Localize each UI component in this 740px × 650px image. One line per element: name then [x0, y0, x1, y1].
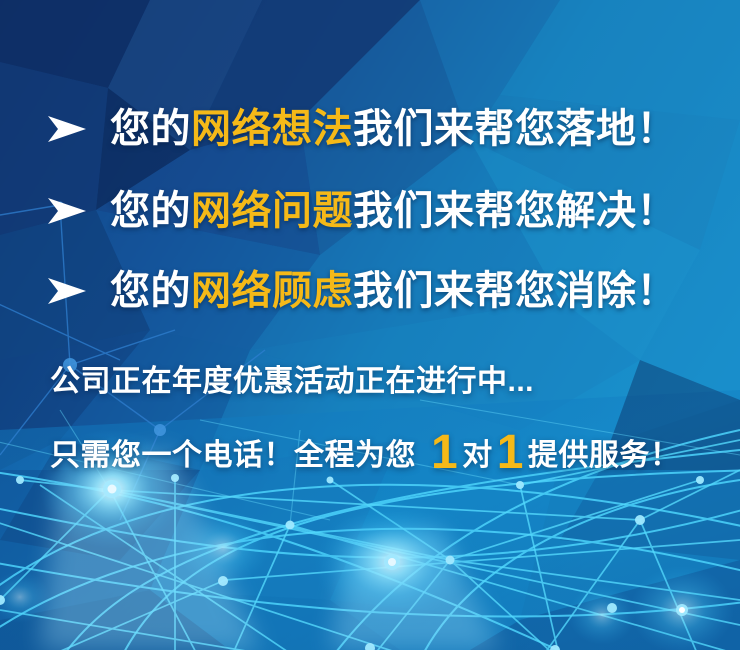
headline-row-1: 您的网络想法我们来帮您落地！ [44, 103, 677, 155]
promo-banner: 您的网络想法我们来帮您落地！ 您的网络问题我们来帮您解决！ 您的网络顾虑我们来帮… [0, 0, 740, 650]
headline-text-3: 您的网络顾虑我们来帮您消除！ [110, 265, 677, 317]
promo-line-2: 只需您一个电话！全程为您 1 对 1 提供服务！ [50, 428, 680, 478]
headline-row-2: 您的网络问题我们来帮您解决！ [44, 185, 677, 237]
headline-row-3: 您的网络顾虑我们来帮您消除！ [44, 265, 677, 317]
arrow-right-icon [44, 271, 88, 311]
headline-highlight-1: 网络想法 [191, 107, 353, 151]
promo-number-one-second: 1 [493, 431, 528, 475]
promo-line-2-part2: 提供服务！ [528, 434, 681, 478]
banner-content: 您的网络想法我们来帮您落地！ 您的网络问题我们来帮您解决！ 您的网络顾虑我们来帮… [0, 0, 740, 650]
headline-highlight-3: 网络顾虑 [191, 269, 353, 313]
arrow-right-icon [44, 191, 88, 231]
promo-number-one-first: 1 [427, 431, 462, 475]
headline-text-2: 您的网络问题我们来帮您解决！ [110, 185, 677, 237]
headline-suffix-2: 我们来帮您解决！ [353, 189, 677, 233]
promo-line-1: 公司正在年度优惠活动正在进行中... [50, 362, 534, 402]
promo-line-2-middle: 对 [462, 434, 493, 478]
promo-line-2-part1: 只需您一个电话！全程为您 [50, 434, 416, 478]
headline-suffix-1: 我们来帮您落地！ [353, 107, 677, 151]
headline-suffix-3: 我们来帮您消除！ [353, 269, 677, 313]
headline-prefix-1: 您的 [110, 107, 191, 151]
headline-highlight-2: 网络问题 [191, 189, 353, 233]
arrow-right-icon [44, 109, 88, 149]
headline-prefix-3: 您的 [110, 269, 191, 313]
headline-text-1: 您的网络想法我们来帮您落地！ [110, 103, 677, 155]
headline-prefix-2: 您的 [110, 189, 191, 233]
